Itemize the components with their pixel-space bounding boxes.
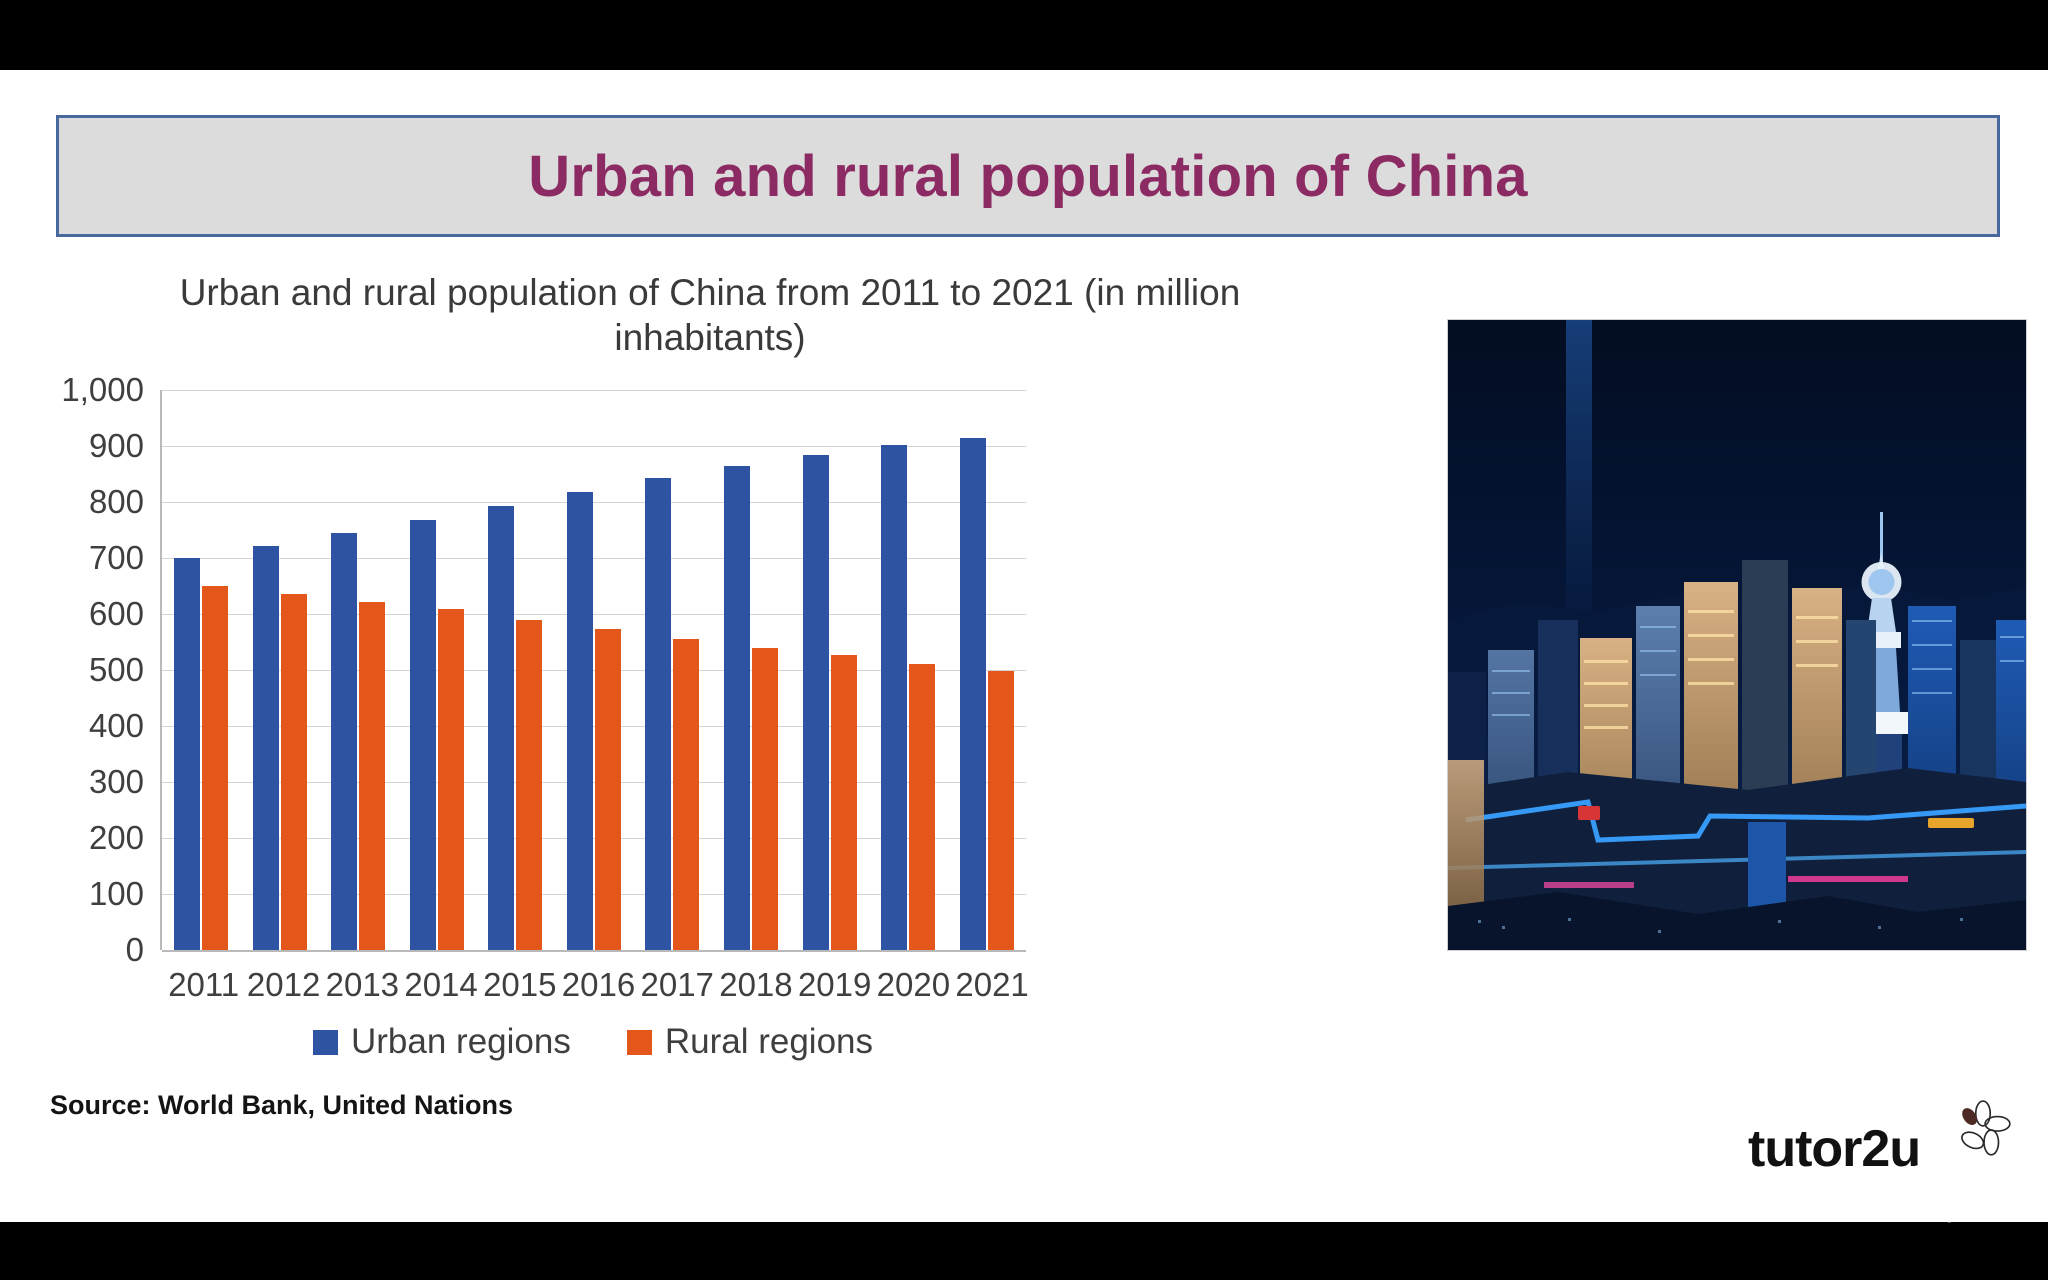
- y-axis-tick: 500: [89, 651, 144, 689]
- legend-swatch-icon: [627, 1030, 652, 1055]
- y-axis: 1,0009008007006005004003002001000: [40, 390, 152, 950]
- bar-rural-2014[interactable]: [438, 609, 464, 950]
- logo-wordmark: tutor2u: [1748, 1119, 1920, 1179]
- y-axis-tick: 600: [89, 595, 144, 633]
- x-axis-tick: 2015: [483, 966, 545, 1004]
- page-title: Urban and rural population of China: [528, 143, 1527, 210]
- bar-group: [955, 390, 1017, 950]
- bar-urban-2017[interactable]: [645, 478, 671, 950]
- bar-group: [406, 390, 468, 950]
- bar-urban-2016[interactable]: [567, 492, 593, 950]
- legend-item-rural[interactable]: Rural regions: [627, 1022, 873, 1062]
- letterbox-top: [0, 0, 2048, 70]
- bar-urban-2015[interactable]: [488, 506, 514, 950]
- bar-group: [327, 390, 389, 950]
- x-axis-tick: 2016: [562, 966, 624, 1004]
- bar-urban-2019[interactable]: [803, 455, 829, 950]
- bar-rural-2013[interactable]: [359, 602, 385, 950]
- y-axis-tick: 1,000: [61, 371, 144, 409]
- bars-layer: [162, 390, 1026, 950]
- legend-swatch-icon: [313, 1030, 338, 1055]
- legend-item-urban[interactable]: Urban regions: [313, 1022, 571, 1062]
- slide-canvas: Urban and rural population of China Urba…: [0, 70, 2048, 1222]
- chart-plot-wrapper: 1,0009008007006005004003002001000 201120…: [40, 390, 1040, 1030]
- x-axis-tick: 2011: [168, 966, 230, 1004]
- bar-rural-2017[interactable]: [673, 639, 699, 950]
- bar-rural-2019[interactable]: [831, 655, 857, 950]
- y-axis-tick: 900: [89, 427, 144, 465]
- x-axis-tick: 2012: [247, 966, 309, 1004]
- y-axis-tick: 700: [89, 539, 144, 577]
- bar-rural-2011[interactable]: [202, 586, 228, 950]
- bar-group: [720, 390, 782, 950]
- bar-urban-2014[interactable]: [410, 520, 436, 950]
- bar-urban-2012[interactable]: [253, 546, 279, 950]
- x-axis-tick: 2019: [798, 966, 860, 1004]
- y-axis-tick: 400: [89, 707, 144, 745]
- x-axis: 2011201220132014201520162017201820192020…: [160, 956, 1026, 1014]
- x-axis-tick: 2021: [955, 966, 1017, 1004]
- x-axis-tick: 2020: [877, 966, 939, 1004]
- bar-group: [249, 390, 311, 950]
- y-axis-tick: 800: [89, 483, 144, 521]
- cityscape-illustration: [1448, 320, 2026, 950]
- legend-label: Urban regions: [351, 1022, 571, 1062]
- bar-rural-2016[interactable]: [595, 629, 621, 950]
- bar-urban-2020[interactable]: [881, 445, 907, 950]
- chart-title: Urban and rural population of China from…: [120, 270, 1300, 360]
- bar-rural-2015[interactable]: [516, 620, 542, 950]
- bar-rural-2018[interactable]: [752, 648, 778, 950]
- bar-group: [641, 390, 703, 950]
- chart-container: Urban and rural population of China from…: [40, 270, 1380, 1100]
- letterbox-bottom: [0, 1222, 2048, 1280]
- legend-label: Rural regions: [665, 1022, 873, 1062]
- plot-area: [160, 390, 1026, 950]
- bar-rural-2021[interactable]: [988, 671, 1014, 950]
- bar-group: [798, 390, 860, 950]
- y-axis-tick: 100: [89, 875, 144, 913]
- y-axis-tick: 0: [126, 931, 144, 969]
- y-axis-tick: 300: [89, 763, 144, 801]
- bar-urban-2021[interactable]: [960, 438, 986, 950]
- x-axis-tick: 2018: [719, 966, 781, 1004]
- slide-root: Urban and rural population of China Urba…: [0, 0, 2048, 1280]
- flower-icon-secondary: [1900, 1151, 1974, 1225]
- bar-urban-2011[interactable]: [174, 558, 200, 950]
- x-axis-tick: 2013: [326, 966, 388, 1004]
- gridline: [162, 950, 1026, 952]
- tutor2u-logo: tutor2u: [1748, 1105, 2008, 1197]
- bar-rural-2020[interactable]: [909, 664, 935, 950]
- bar-group: [484, 390, 546, 950]
- night-cityscape-photo: [1448, 320, 2026, 950]
- x-axis-tick: 2017: [641, 966, 703, 1004]
- bar-urban-2013[interactable]: [331, 533, 357, 950]
- title-banner: Urban and rural population of China: [56, 115, 2000, 237]
- bar-group: [170, 390, 232, 950]
- y-axis-tick: 200: [89, 819, 144, 857]
- source-note: Source: World Bank, United Nations: [50, 1090, 513, 1121]
- x-axis-tick: 2014: [404, 966, 466, 1004]
- chart-legend: Urban regionsRural regions: [160, 1022, 1026, 1062]
- bar-group: [877, 390, 939, 950]
- bar-rural-2012[interactable]: [281, 594, 307, 950]
- bar-urban-2018[interactable]: [724, 466, 750, 950]
- bar-group: [563, 390, 625, 950]
